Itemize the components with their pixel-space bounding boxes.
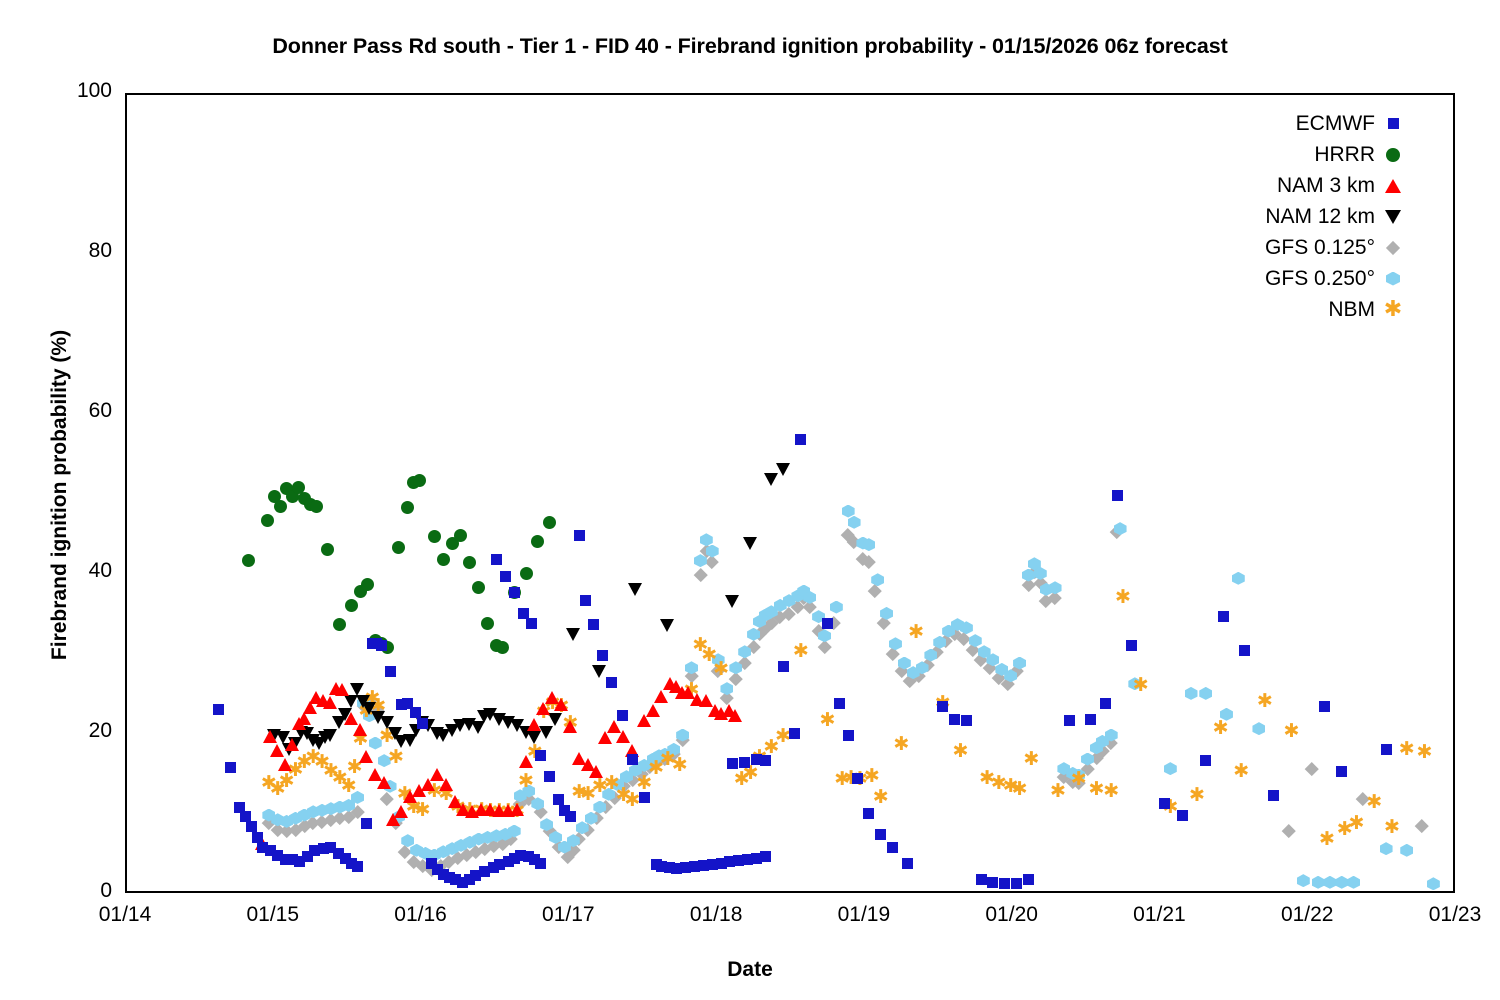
legend-swatch [1386, 272, 1400, 286]
y-tick-label: 100 [0, 79, 112, 103]
data-point [597, 650, 608, 661]
data-point [1218, 611, 1229, 622]
x-tick-label: 01/23 [1385, 903, 1500, 927]
data-point [588, 619, 599, 630]
y-tick-label: 20 [0, 719, 112, 743]
legend-swatch [1385, 179, 1401, 193]
data-point [822, 618, 833, 629]
legend-swatch [1388, 118, 1399, 129]
data-point [999, 878, 1010, 889]
data-point [606, 677, 617, 688]
x-tick-label: 01/22 [1237, 903, 1377, 927]
data-point [1023, 874, 1034, 885]
data-point [778, 661, 789, 672]
y-tick-label: 80 [0, 239, 112, 263]
legend-swatch [1386, 240, 1400, 254]
data-point [834, 698, 845, 709]
data-point [739, 757, 750, 768]
data-point [863, 808, 874, 819]
data-point [213, 704, 224, 715]
data-point [565, 811, 576, 822]
square-marker-icon [1381, 112, 1405, 136]
data-point [1159, 798, 1170, 809]
data-point [1064, 715, 1075, 726]
data-point [376, 640, 387, 651]
data-point [246, 821, 257, 832]
triangle-down-marker-icon [1381, 205, 1405, 229]
legend-item-ecmwf[interactable]: ECMWF [1180, 108, 1405, 139]
data-point [1336, 766, 1347, 777]
data-point [526, 618, 537, 629]
x-tick-label: 01/18 [646, 903, 786, 927]
data-point [887, 842, 898, 853]
data-point [949, 714, 960, 725]
legend-item-nbm[interactable]: NBM✱ [1180, 294, 1405, 325]
x-tick-label: 01/20 [942, 903, 1082, 927]
y-tick-label: 60 [0, 399, 112, 423]
legend: ECMWFHRRRNAM 3 kmNAM 12 kmGFS 0.125°GFS … [1180, 108, 1405, 325]
data-point [1319, 701, 1330, 712]
diamond-marker-icon [1381, 236, 1405, 260]
data-point [617, 710, 628, 721]
data-point [760, 851, 771, 862]
data-point [627, 754, 638, 765]
legend-swatch [1385, 210, 1401, 224]
data-point [1200, 755, 1211, 766]
y-axis-label: Firebrand ignition probability (%) [48, 95, 72, 895]
data-point [1381, 744, 1392, 755]
data-point [1085, 714, 1096, 725]
data-point [795, 434, 806, 445]
data-point [961, 715, 972, 726]
data-point [574, 530, 585, 541]
data-point [976, 874, 987, 885]
legend-item-gfs-0-250[interactable]: GFS 0.250° [1180, 263, 1405, 294]
data-point [937, 701, 948, 712]
data-point [1011, 878, 1022, 889]
data-point [491, 554, 502, 565]
y-tick-label: 40 [0, 559, 112, 583]
data-point [385, 666, 396, 677]
data-point [987, 877, 998, 888]
x-tick-label: 01/15 [203, 903, 343, 927]
data-point [639, 792, 650, 803]
data-point [1100, 698, 1111, 709]
data-point [361, 818, 372, 829]
data-point [535, 858, 546, 869]
data-point [727, 758, 738, 769]
data-point [1268, 790, 1279, 801]
x-tick-label: 01/16 [351, 903, 491, 927]
data-point [580, 595, 591, 606]
data-point [1126, 640, 1137, 651]
asterisk-marker-icon: ✱ [1381, 298, 1405, 322]
legend-item-nam-3-km[interactable]: NAM 3 km [1180, 170, 1405, 201]
circle-marker-icon [1381, 143, 1405, 167]
legend-item-gfs-0-125[interactable]: GFS 0.125° [1180, 232, 1405, 263]
data-point [553, 794, 564, 805]
x-tick-label: 01/21 [1089, 903, 1229, 927]
data-point [852, 773, 863, 784]
x-tick-label: 01/19 [794, 903, 934, 927]
data-point [1112, 490, 1123, 501]
hexagon-marker-icon [1381, 267, 1405, 291]
data-point [544, 771, 555, 782]
data-point [1177, 810, 1188, 821]
data-point [843, 730, 854, 741]
data-point [410, 707, 421, 718]
data-point [417, 718, 428, 729]
data-point [875, 829, 886, 840]
x-axis-label: Date [0, 958, 1500, 982]
data-point [352, 861, 363, 872]
page-title: Donner Pass Rd south - Tier 1 - FID 40 -… [0, 34, 1500, 59]
data-point [902, 858, 913, 869]
legend-swatch: ✱ [1384, 299, 1402, 321]
data-point [225, 762, 236, 773]
legend-swatch [1386, 148, 1400, 162]
legend-item-hrrr[interactable]: HRRR [1180, 139, 1405, 170]
legend-item-nam-12-km[interactable]: NAM 12 km [1180, 201, 1405, 232]
triangle-up-marker-icon [1381, 174, 1405, 198]
data-point [500, 571, 511, 582]
data-point [509, 587, 520, 598]
x-tick-label: 01/14 [55, 903, 195, 927]
data-point [760, 755, 771, 766]
data-point [1239, 645, 1250, 656]
x-tick-label: 01/17 [498, 903, 638, 927]
data-point [789, 728, 800, 739]
data-point [535, 750, 546, 761]
y-tick-label: 0 [0, 879, 112, 903]
chart-figure: Donner Pass Rd south - Tier 1 - FID 40 -… [0, 0, 1500, 1000]
